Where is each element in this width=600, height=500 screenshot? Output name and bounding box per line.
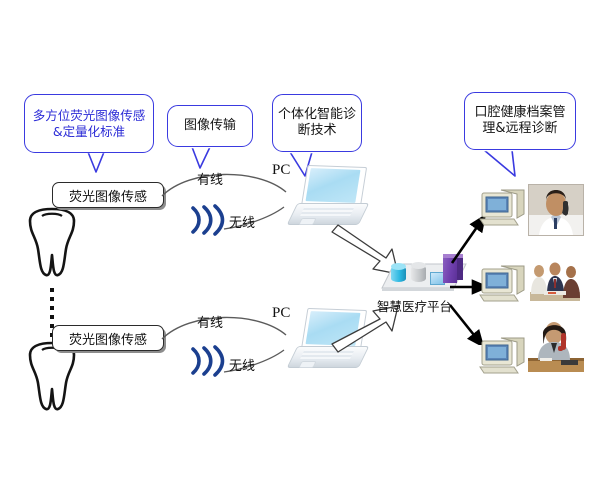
callout-personalized-diagnosis-text: 个体化智能诊断技术 bbox=[273, 105, 361, 141]
tooth-icon-row-2 bbox=[22, 341, 82, 413]
callout-multiangle-sensing: 多方位荧光图像传感&定量化标准 bbox=[24, 94, 154, 153]
wired-label-row-2: 有线 bbox=[197, 312, 223, 331]
sensor-label-row-2-text: 荧光图像传感 bbox=[69, 329, 147, 348]
pc-label-row-1: PC bbox=[272, 162, 290, 179]
desktop-computer-icon-2 bbox=[479, 262, 527, 304]
callout-image-transmission: 图像传输 bbox=[167, 105, 253, 147]
wireless-label-row-1: 无线 bbox=[229, 212, 255, 231]
server-tower-icon bbox=[443, 257, 457, 283]
callout-tails bbox=[0, 0, 600, 500]
pc-label-row-2-text: PC bbox=[272, 305, 290, 321]
desktop-computer-icon-3 bbox=[479, 334, 527, 376]
server-tower-top bbox=[443, 254, 463, 258]
sensor-label-row-1-text: 荧光图像传感 bbox=[69, 186, 147, 205]
diagram-canvas: 多方位荧光图像传感&定量化标准 图像传输 个体化智能诊断技术 口腔健康档案管理&… bbox=[0, 0, 600, 500]
callout-oral-health-records: 口腔健康档案管理&远程诊断 bbox=[464, 92, 576, 150]
smart-medical-platform bbox=[378, 248, 470, 300]
desktop-computer-icon-1 bbox=[479, 186, 527, 228]
wired-label-row-2-text: 有线 bbox=[197, 316, 223, 331]
platform-label-text: 智慧医疗平台 bbox=[377, 299, 452, 314]
pc-label-row-1-text: PC bbox=[272, 162, 290, 178]
wired-label-row-1: 有线 bbox=[197, 169, 223, 188]
doctor-on-phone-photo bbox=[528, 184, 584, 236]
wireless-label-row-2-text: 无线 bbox=[229, 359, 255, 374]
laptop-icon-row-1 bbox=[292, 166, 364, 226]
tooth-icon bbox=[22, 207, 82, 279]
platform-label: 智慧医疗平台 bbox=[377, 296, 452, 315]
callout-multiangle-sensing-text: 多方位荧光图像传感&定量化标准 bbox=[25, 106, 153, 141]
pc-label-row-2: PC bbox=[272, 305, 290, 322]
callout-oral-health-records-text: 口腔健康档案管理&远程诊断 bbox=[465, 103, 575, 139]
database-cylinder-cyan-top bbox=[391, 263, 406, 270]
callout-image-transmission-text: 图像传输 bbox=[180, 116, 240, 136]
medical-team-meeting-photo bbox=[526, 258, 584, 304]
wireless-label-row-1-text: 无线 bbox=[229, 216, 255, 231]
wired-link-row-2 bbox=[160, 309, 290, 349]
wired-link-row-1 bbox=[160, 166, 290, 206]
receptionist-on-phone-photo bbox=[528, 320, 584, 372]
database-cylinder-gray-top bbox=[411, 262, 426, 269]
callout-personalized-diagnosis: 个体化智能诊断技术 bbox=[272, 94, 362, 152]
sensor-label-row-1: 荧光图像传感 bbox=[52, 182, 164, 208]
wired-label-row-1-text: 有线 bbox=[197, 173, 223, 188]
wireless-label-row-2: 无线 bbox=[229, 355, 255, 374]
sensor-label-row-2: 荧光图像传感 bbox=[52, 325, 164, 351]
